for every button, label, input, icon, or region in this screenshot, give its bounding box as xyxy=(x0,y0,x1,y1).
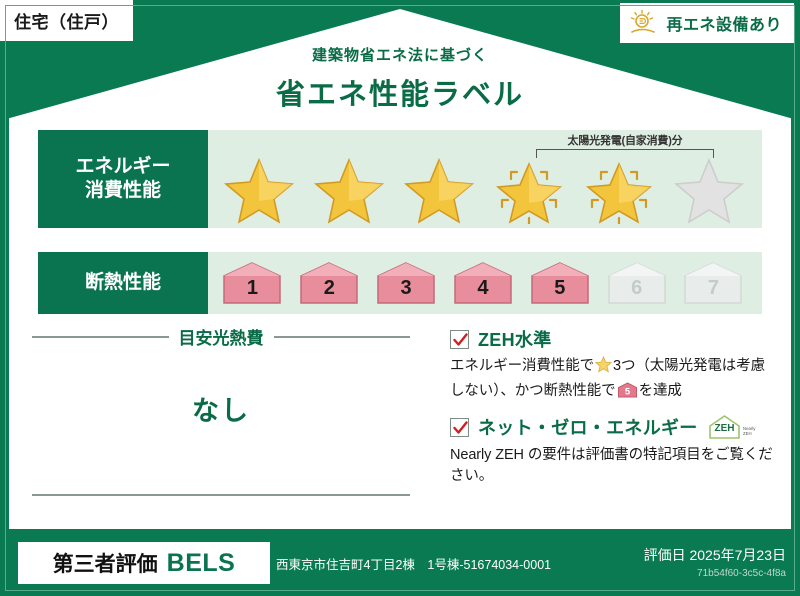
insulation-label: 断熱性能 xyxy=(85,271,161,295)
utility-cost-title: 目安光熱費 xyxy=(179,324,264,349)
claim-body-part3: を達成 xyxy=(639,383,682,399)
solar-annotation-bracket xyxy=(536,149,714,158)
star-3-filled xyxy=(396,150,482,224)
energy-label-line2: 消費性能 xyxy=(85,179,161,203)
energy-label-line1: エネルギー xyxy=(75,155,170,179)
star-2-filled xyxy=(306,150,392,224)
insulation-level-6: 6 xyxy=(605,261,669,305)
checkbox-net-zero-energy[interactable] xyxy=(450,418,469,437)
star-1-filled xyxy=(216,150,302,224)
insulation-level-4-value: 4 xyxy=(477,277,488,305)
evaluation-hash: 71b54f60-3c5c-4f8a xyxy=(644,568,786,579)
insulation-level-track: 1 2 3 xyxy=(208,252,762,314)
energy-performance-label-box: エネルギー 消費性能 xyxy=(38,130,208,228)
insulation-level-6-value: 6 xyxy=(631,277,642,305)
utility-cost-rule-right xyxy=(274,336,411,338)
insulation-level-7: 7 xyxy=(681,261,745,305)
zeh-claims-panel: ZEH水準 エネルギー消費性能で3つ（太陽光発電は考慮しない）、かつ断熱性能で5… xyxy=(428,322,786,518)
sun-renewable-icon xyxy=(628,9,658,37)
star-5-filled-solar xyxy=(576,150,662,224)
bels-plate: 第三者評価 BELS xyxy=(18,542,270,584)
utility-cost-value: なし xyxy=(32,389,410,428)
utility-cost-panel: 目安光熱費 なし xyxy=(14,322,428,518)
claim-net-zero-energy-title: ネット・ゼロ・エネルギー xyxy=(478,414,698,440)
insulation-level-5: 5 xyxy=(528,261,592,305)
solar-annotation-caption: 太陽光発電(自家消費)分 xyxy=(500,132,750,148)
energy-performance-row: エネルギー 消費性能 太陽光発電(自家消費)分 xyxy=(38,130,762,228)
label-main-title: 省エネ性能ラベル xyxy=(0,71,800,113)
insulation-house-strip: 1 2 3 xyxy=(208,252,762,314)
utility-cost-bottom-rule xyxy=(32,494,410,496)
energy-star-track: 太陽光発電(自家消費)分 xyxy=(208,130,762,228)
svg-text:ZEH: ZEH xyxy=(743,431,752,436)
insulation-level-3-value: 3 xyxy=(401,277,412,305)
label-title-block: 建築物省エネ法に基づく 省エネ性能ラベル xyxy=(0,44,800,113)
insulation-level-1-value: 1 xyxy=(247,277,258,305)
renewable-energy-badge: 再エネ設備あり xyxy=(620,3,794,43)
utility-cost-header: 目安光熱費 xyxy=(32,324,410,349)
claim-zeh-standard-body: エネルギー消費性能で3つ（太陽光発電は考慮しない）、かつ断熱性能で5を達成 xyxy=(450,356,778,406)
claim-zeh-standard: ZEH水準 エネルギー消費性能で3つ（太陽光発電は考慮しない）、かつ断熱性能で5… xyxy=(450,326,778,406)
solar-annotation: 太陽光発電(自家消費)分 xyxy=(500,132,750,158)
insulation-level-7-value: 7 xyxy=(708,277,719,305)
star-4-filled-solar xyxy=(486,150,572,224)
checkbox-zeh-standard[interactable] xyxy=(450,330,469,349)
star-6-empty xyxy=(666,150,752,224)
insulation-level-2-value: 2 xyxy=(324,277,335,305)
evaluation-info: 評価日 2025年7月23日 71b54f60-3c5c-4f8a xyxy=(644,545,786,579)
bels-jp-label: 第三者評価 xyxy=(53,548,158,578)
energy-performance-label: 住宅（住戸） 再エネ設備あり 建築物省エネ法に基づく 省エネ性能ラベル xyxy=(0,0,800,596)
claim-net-zero-energy: ネット・ゼロ・エネルギー ZEH Nearly ZEH Nearly ZEH の… xyxy=(450,414,778,489)
svg-text:5: 5 xyxy=(624,386,630,397)
label-subtitle: 建築物省エネ法に基づく xyxy=(0,44,800,65)
insulation-level-4: 4 xyxy=(451,261,515,305)
insulation-performance-row: 断熱性能 1 2 xyxy=(38,252,762,314)
insulation-level-1: 1 xyxy=(220,261,284,305)
svg-text:ZEH: ZEH xyxy=(714,423,734,434)
evaluation-date: 評価日 2025年7月23日 xyxy=(644,545,786,565)
label-footer: 第三者評価 BELS 西東京市住吉町4丁目2棟 1号棟-51674034-000… xyxy=(0,530,800,596)
claim-zeh-standard-title: ZEH水準 xyxy=(478,326,552,352)
utility-cost-rule-left xyxy=(32,336,169,338)
insulation-performance-label-box: 断熱性能 xyxy=(38,252,208,314)
claim-body-part1: エネルギー消費性能で xyxy=(450,358,594,374)
insulation-level-2: 2 xyxy=(297,261,361,305)
bels-en-label: BELS xyxy=(167,549,236,578)
zeh-house-logo: ZEH Nearly ZEH xyxy=(707,414,761,441)
insulation-level-5-value: 5 xyxy=(554,277,565,305)
claim-net-zero-energy-body: Nearly ZEH の要件は評価書の特記項目をご覧ください。 xyxy=(450,445,778,489)
category-tag-label: 住宅（住戸） xyxy=(14,8,119,33)
lower-section: 目安光熱費 なし ZEH水準 エネルギー消費性能で3つ（太陽光発電は考 xyxy=(14,322,786,518)
claim-zeh-standard-header: ZEH水準 xyxy=(450,326,778,352)
claim-net-zero-energy-header: ネット・ゼロ・エネルギー ZEH Nearly ZEH xyxy=(450,414,778,441)
house-level-5-icon: 5 xyxy=(617,382,638,406)
category-tag: 住宅（住戸） xyxy=(0,0,133,41)
insulation-level-3: 3 xyxy=(374,261,438,305)
star-icon xyxy=(595,356,612,381)
star-rating-strip xyxy=(208,150,762,224)
renewable-badge-label: 再エネ設備あり xyxy=(666,11,782,35)
property-address: 西東京市住吉町4丁目2棟 1号棟-51674034-0001 xyxy=(276,554,551,573)
